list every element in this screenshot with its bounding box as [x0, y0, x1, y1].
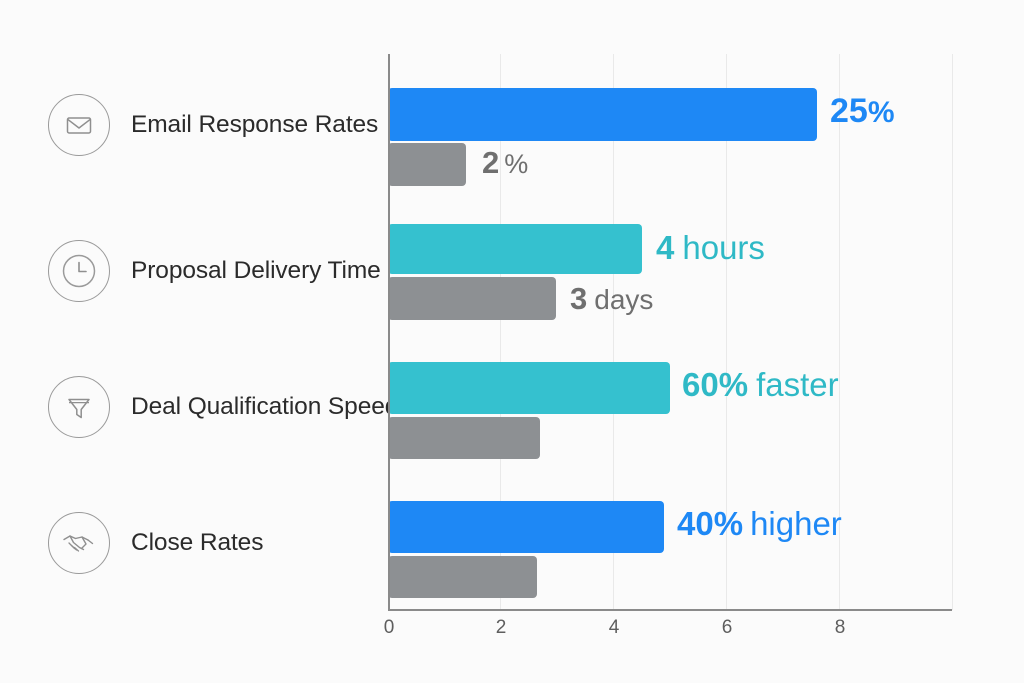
y-axis-line	[388, 54, 390, 610]
value-label-email-baseline: 2%	[482, 147, 528, 178]
category-label-deal: Deal Qualification Speed	[131, 395, 398, 420]
bar-deal-improved	[388, 362, 670, 414]
value-label-proposal-improved-value: 4	[656, 229, 674, 266]
category-row-deal: Deal Qualification Speed	[0, 352, 400, 462]
bar-proposal-improved	[388, 224, 642, 274]
value-label-proposal-baseline: 3days	[570, 283, 653, 314]
value-label-close-improved-unit: higher	[743, 505, 842, 542]
x-tick-0: 0	[384, 618, 395, 637]
value-label-email-improved: 25%	[830, 94, 895, 128]
category-row-email: Email Response Rates	[0, 70, 400, 180]
category-row-close: Close Rates	[0, 488, 400, 598]
value-label-close-improved: 40%higher	[677, 507, 842, 540]
bar-email-baseline	[388, 143, 466, 186]
value-label-proposal-improved-unit: hours	[674, 229, 765, 266]
handshake-icon	[48, 512, 110, 574]
bar-deal-baseline	[388, 417, 540, 459]
x-axis-line	[388, 609, 952, 611]
category-label-close: Close Rates	[131, 531, 263, 556]
x-tick-2: 2	[496, 618, 507, 637]
bar-proposal-baseline	[388, 277, 556, 320]
value-label-deal-improved: 60%faster	[682, 368, 839, 401]
clock-icon	[48, 240, 110, 302]
bar-email-improved	[388, 88, 817, 141]
value-label-email-improved-unit: %	[868, 96, 895, 129]
envelope-icon	[48, 94, 110, 156]
value-label-close-improved-value: 40%	[677, 505, 743, 542]
value-label-email-baseline-unit: %	[499, 149, 528, 179]
value-label-proposal-baseline-value: 3	[570, 281, 587, 316]
x-tick-4: 4	[609, 618, 620, 637]
category-label-proposal: Proposal Delivery Time	[131, 259, 381, 284]
value-label-proposal-improved: 4hours	[656, 231, 765, 264]
category-row-proposal: Proposal Delivery Time	[0, 216, 400, 326]
gridline-10	[952, 54, 953, 610]
bar-close-baseline	[388, 556, 537, 598]
bar-chart: Email Response Rates Proposal Delivery T…	[0, 0, 1024, 683]
plot-area: 25% 2% 4hours 3days 60%faster 40%higher	[388, 54, 952, 610]
funnel-icon	[48, 376, 110, 438]
value-label-deal-improved-unit: faster	[748, 366, 839, 403]
category-label-email: Email Response Rates	[131, 113, 378, 138]
x-tick-6: 6	[722, 618, 733, 637]
value-label-email-improved-value: 25	[830, 92, 868, 130]
x-tick-8: 8	[835, 618, 846, 637]
value-label-deal-improved-value: 60%	[682, 366, 748, 403]
bar-close-improved	[388, 501, 664, 553]
value-label-proposal-baseline-unit: days	[587, 284, 653, 315]
value-label-email-baseline-value: 2	[482, 145, 499, 180]
